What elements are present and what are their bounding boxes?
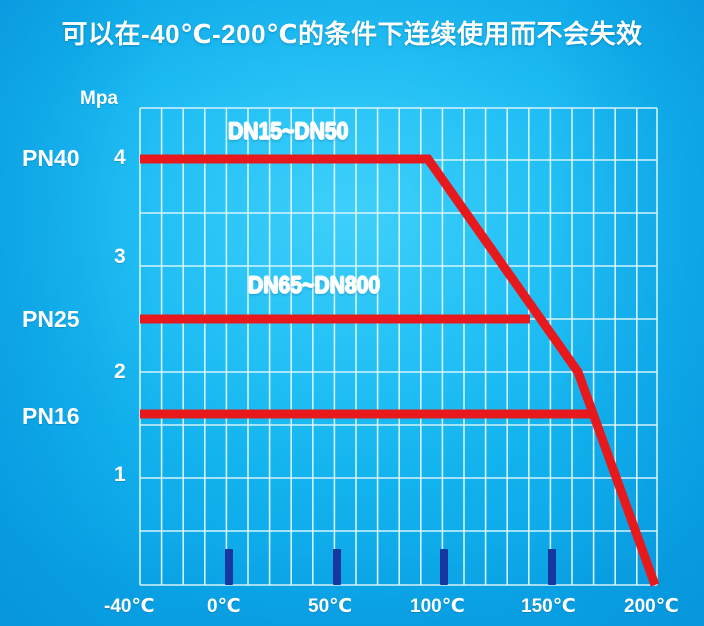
series-label-dn15-dn50: DN15~DN50 [228,118,348,146]
y-tick-3: 3 [114,245,126,269]
chart-page: 可以在-40℃-200℃的条件下连续使用而不会失效 [0,0,704,626]
x-axis-tickmarks [225,549,556,585]
y-axis-pn25-label: PN25 [22,306,80,333]
x-tick-150: 150℃ [521,595,576,618]
y-tick-4: 4 [114,146,126,170]
x-tick-minus40: -40℃ [104,595,154,618]
y-tick-1: 1 [114,463,126,487]
y-axis-pn16-label: PN16 [22,403,80,430]
x-tick-50: 50℃ [308,595,352,618]
series-label-dn65-dn800: DN65~DN800 [248,272,380,300]
tickmark-150c [548,549,556,585]
x-tick-0: 0℃ [207,595,241,618]
grid-vertical [140,108,657,585]
y-axis-pn40-label: PN40 [22,145,80,172]
tickmark-50c [333,549,341,585]
x-tick-200: 200℃ [624,595,679,618]
y-axis-unit-label: Mpa [80,88,118,110]
y-tick-2: 2 [114,360,126,384]
x-tick-100: 100℃ [410,595,465,618]
tickmark-0c [225,549,233,585]
page-title: 可以在-40℃-200℃的条件下连续使用而不会失效 [0,14,704,51]
tickmark-100c [440,549,448,585]
